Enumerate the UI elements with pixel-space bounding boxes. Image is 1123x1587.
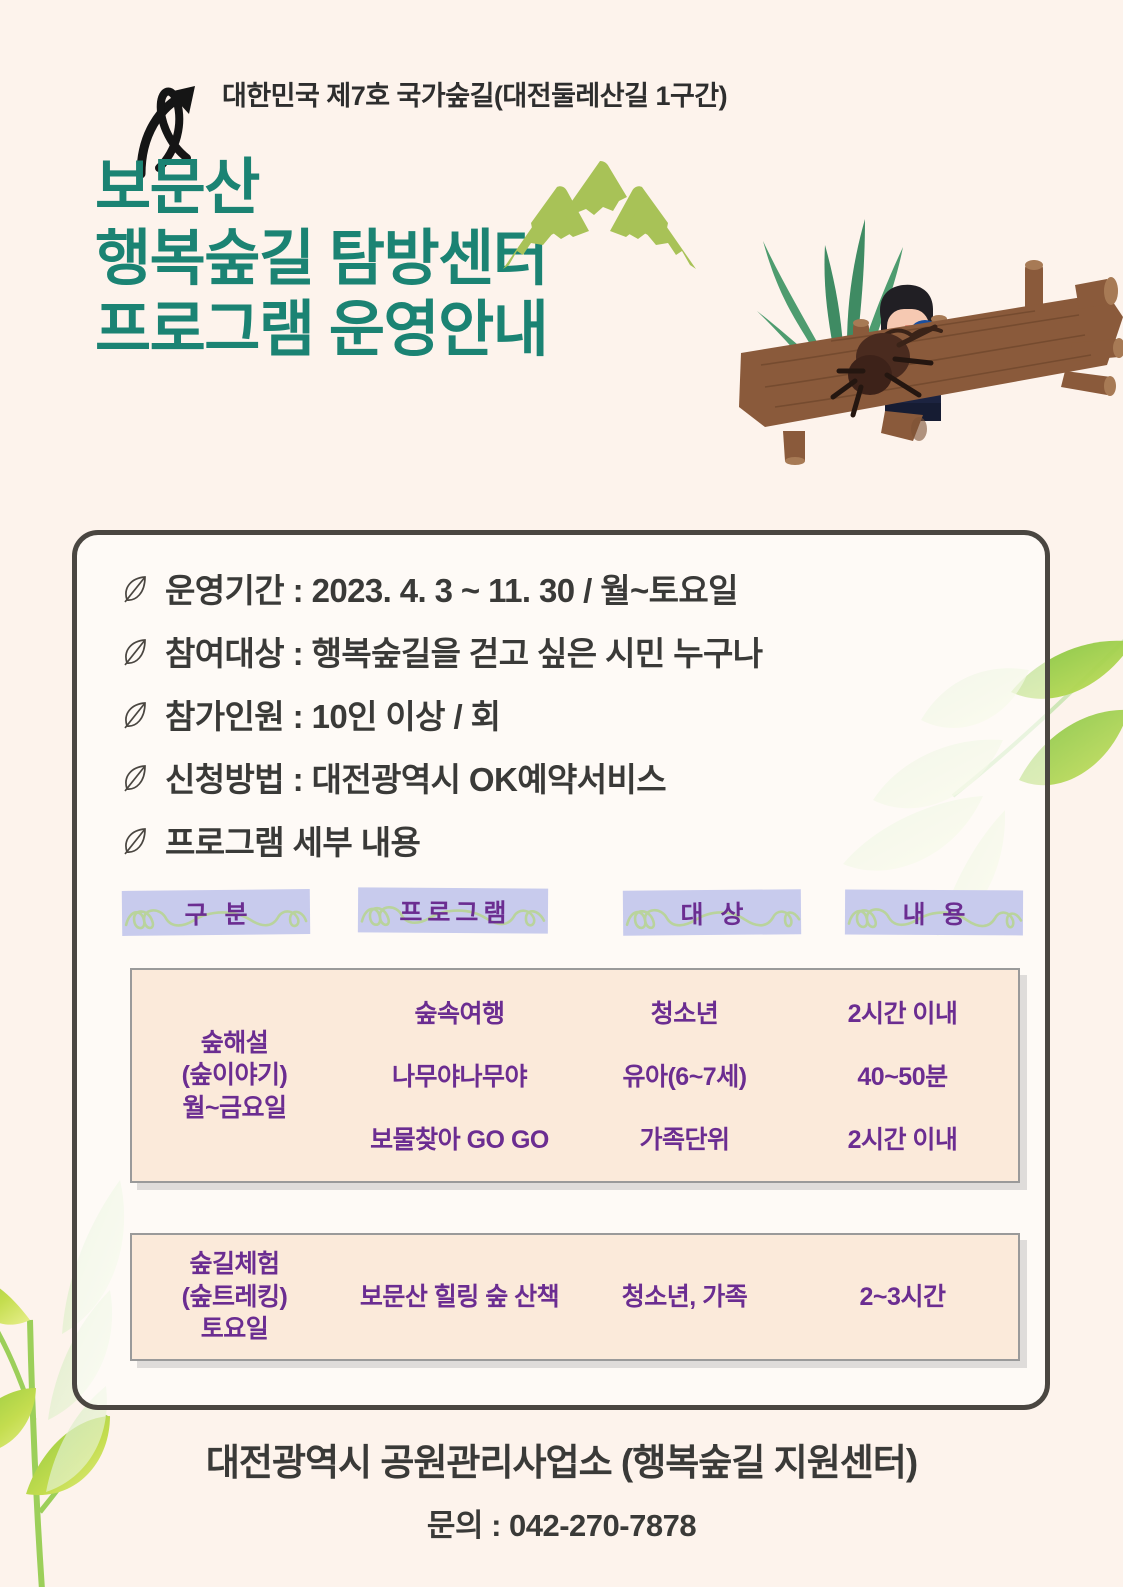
leaf-outline-icon xyxy=(118,823,152,857)
table-header-target-label: 대 상 xyxy=(675,894,748,931)
info-item-1-text: 참여대상 : 행복숲길을 걷고 싶은 시민 누구나 xyxy=(165,627,762,675)
target-cell-1-0: 청소년, 가족 xyxy=(582,1281,787,1314)
mountain-logo-icon xyxy=(487,157,712,273)
target-cell-0-2: 가족단위 xyxy=(582,1124,787,1157)
content-cell-1-0: 2~3시간 xyxy=(787,1281,1018,1314)
title-line-1: 보문산 xyxy=(95,152,547,223)
target-cell-0-0: 청소년 xyxy=(582,998,787,1031)
info-item-0: 운영기간 : 2023. 4. 3 ~ 11. 30 / 월~토요일 xyxy=(118,556,1018,619)
table-header-target: 대 상 xyxy=(623,889,801,936)
footer-organization: 대전광역시 공원관리사업소 (행복숲길 지원센터) xyxy=(0,1432,1123,1486)
content-cell-0-2: 2시간 이내 xyxy=(787,1124,1018,1157)
content-cell-0-0: 2시간 이내 xyxy=(787,998,1018,1031)
table-header-division-label: 구 분 xyxy=(179,894,252,931)
division-cell-0: 숲해설 (숲이야기) 월~금요일 xyxy=(132,970,337,1181)
info-item-0-text: 운영기간 : 2023. 4. 3 ~ 11. 30 / 월~토요일 xyxy=(165,564,738,612)
poster-root: 대한민국 제7호 국가숲길(대전둘레산길 1구간) 보문산 행복숲길 탐방센터 … xyxy=(0,0,1123,1587)
division-line-0-1: (숲이야기) xyxy=(182,1059,288,1092)
table-header-content-label: 내 용 xyxy=(897,894,970,930)
info-item-4-text: 프로그램 세부 내용 xyxy=(165,816,420,864)
program-cell-0-1: 나무야나무야 xyxy=(337,1061,582,1094)
division-line-0-0: 숲해설 xyxy=(182,1027,288,1060)
info-list: 운영기간 : 2023. 4. 3 ~ 11. 30 / 월~토요일 참여대상 … xyxy=(118,556,1018,871)
target-cell-0-1: 유아(6~7세) xyxy=(582,1061,787,1094)
table-header-program: 프로그램 xyxy=(358,887,548,933)
table-header-division: 구 분 xyxy=(122,889,310,936)
info-item-4: 프로그램 세부 내용 xyxy=(118,808,1018,871)
program-cell-0-0: 숲속여행 xyxy=(337,998,582,1031)
table-header-program-label: 프로그램 xyxy=(394,892,511,929)
program-table-forest-commentary: 숲해설 (숲이야기) 월~금요일 숲속여행 청소년 2시간 이내 나무야나무야 … xyxy=(130,968,1020,1183)
program-cell-0-2: 보물찾아 GO GO xyxy=(337,1124,582,1157)
leaf-outline-icon xyxy=(118,760,152,794)
info-item-2: 참가인원 : 10인 이상 / 회 xyxy=(118,682,1018,745)
info-item-3: 신청방법 : 대전광역시 OK예약서비스 xyxy=(118,745,1018,808)
leaf-outline-icon xyxy=(118,697,152,731)
forest-illustration xyxy=(735,175,1123,475)
leaf-outline-icon xyxy=(118,571,152,605)
info-item-2-text: 참가인원 : 10인 이상 / 회 xyxy=(165,690,500,738)
division-line-1-0: 숲길체험 xyxy=(182,1248,288,1281)
division-line-0-2: 월~금요일 xyxy=(182,1092,288,1125)
poster-subtitle: 대한민국 제7호 국가숲길(대전둘레산길 1구간) xyxy=(222,74,727,113)
info-item-1: 참여대상 : 행복숲길을 걷고 싶은 시민 누구나 xyxy=(118,619,1018,682)
division-cell-1: 숲길체험 (숲트레킹) 토요일 xyxy=(132,1235,337,1359)
table-header-content: 내 용 xyxy=(845,890,1023,936)
title-line-2: 행복숲길 탐방센터 xyxy=(95,223,547,294)
footer-contact: 문의 : 042-270-7878 xyxy=(0,1500,1123,1545)
division-line-1-2: 토요일 xyxy=(182,1313,288,1346)
title-line-3: 프로그램 운영안내 xyxy=(95,294,547,365)
program-cell-1-0: 보문산 힐링 숲 산책 xyxy=(337,1281,582,1314)
program-table-forest-trekking: 숲길체험 (숲트레킹) 토요일 보문산 힐링 숲 산책 청소년, 가족 2~3시… xyxy=(130,1233,1020,1361)
poster-title: 보문산 행복숲길 탐방센터 프로그램 운영안내 xyxy=(95,152,547,364)
footer: 대전광역시 공원관리사업소 (행복숲길 지원센터) 문의 : 042-270-7… xyxy=(0,1432,1123,1545)
content-cell-0-1: 40~50분 xyxy=(787,1061,1018,1094)
leaf-outline-icon xyxy=(118,634,152,668)
info-item-3-text: 신청방법 : 대전광역시 OK예약서비스 xyxy=(165,753,666,801)
division-line-1-1: (숲트레킹) xyxy=(182,1281,288,1314)
